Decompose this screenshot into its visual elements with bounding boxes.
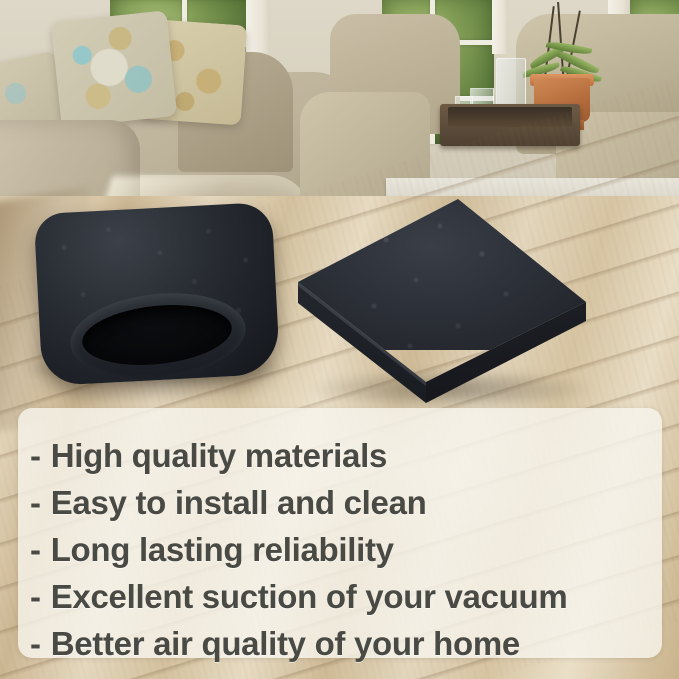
feature-list-item: - Long lasting reliability xyxy=(30,526,662,573)
foam-pad-texture xyxy=(296,190,596,390)
bullet-dash: - xyxy=(30,620,41,667)
feature-list-panel: - High quality materials - Easy to insta… xyxy=(18,408,662,658)
feature-list: - High quality materials - Easy to insta… xyxy=(18,418,662,667)
window-trim-column xyxy=(492,0,508,54)
feature-text: Excellent suction of your vacuum xyxy=(51,573,568,620)
feature-list-item: - High quality materials xyxy=(30,432,662,479)
bullet-dash: - xyxy=(30,432,41,479)
bullet-dash: - xyxy=(30,573,41,620)
product-foam-filter-sleeve xyxy=(38,208,276,393)
feature-list-item: - Better air quality of your home xyxy=(30,620,662,667)
feature-text: Easy to install and clean xyxy=(51,479,427,526)
feature-text: Long lasting reliability xyxy=(51,526,394,573)
feature-text: High quality materials xyxy=(51,432,387,479)
bullet-dash: - xyxy=(30,526,41,573)
product-foam-filter-pad xyxy=(296,190,596,410)
throw-pillow-paisley xyxy=(51,10,177,128)
bullet-dash: - xyxy=(30,479,41,526)
feature-text: Better air quality of your home xyxy=(51,620,520,667)
product-image-stage: - High quality materials - Easy to insta… xyxy=(0,0,679,679)
feature-list-item: - Excellent suction of your vacuum xyxy=(30,573,662,620)
feature-list-item: - Easy to install and clean xyxy=(30,479,662,526)
